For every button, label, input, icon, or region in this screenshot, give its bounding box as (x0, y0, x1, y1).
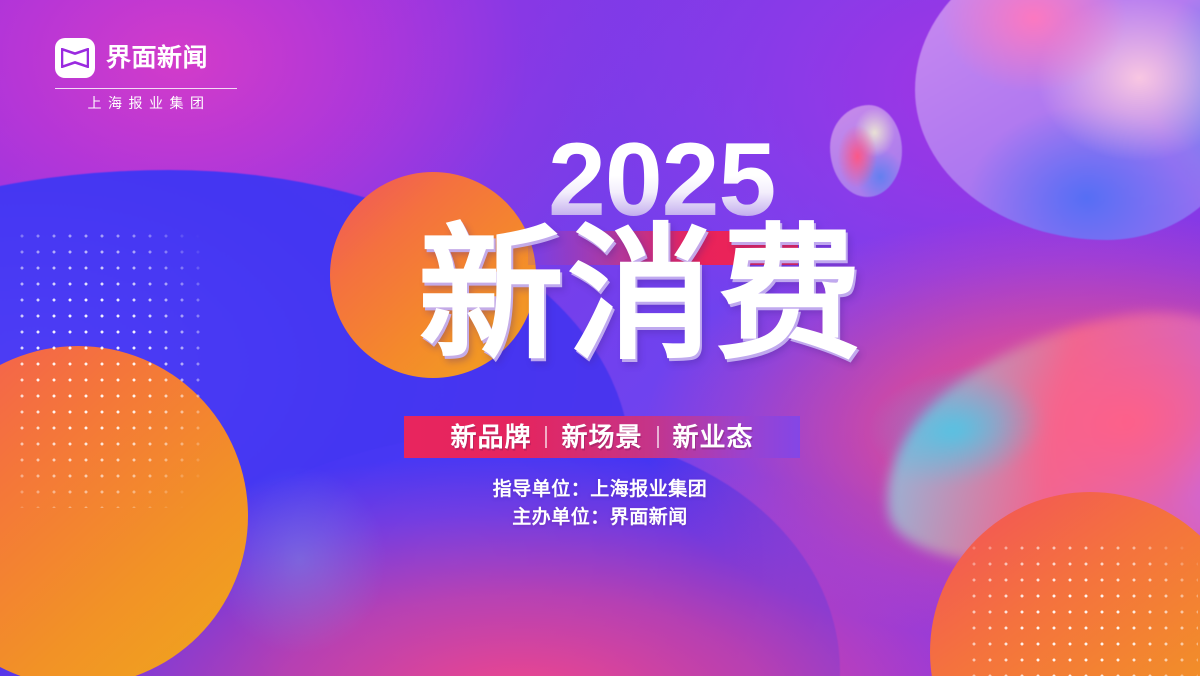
logo-row: 界面新闻 (55, 38, 237, 78)
hero-subtitle-band: 新品牌 新场景 新业态 (404, 416, 800, 458)
logo-wordmark: 界面新闻 (106, 46, 208, 71)
subtitle-item-format: 新业态 (659, 424, 768, 450)
subtitle-item-brand: 新品牌 (436, 424, 545, 450)
credit-line-organizer: 主办单位：界面新闻 (0, 504, 1200, 532)
credit-line-guidance: 指导单位：上海报业集团 (0, 476, 1200, 504)
jiemian-bowtie-logo-icon (55, 38, 95, 78)
logo-divider (55, 88, 237, 89)
dot-grid-right (966, 540, 1198, 676)
logo-subtitle: 上海报业集团 (55, 96, 237, 110)
brand-logo: 界面新闻 上海报业集团 (55, 38, 237, 110)
credits-block: 指导单位：上海报业集团 主办单位：界面新闻 (0, 476, 1200, 532)
gradient-blob-small-icon (830, 105, 902, 197)
hero-title: 新消费 (418, 222, 865, 368)
subtitle-item-scene: 新场景 (547, 424, 656, 450)
poster-canvas: 界面新闻 上海报业集团 2025 新消费 新品牌 新场景 新业态 指导单位：上海… (0, 0, 1200, 676)
dot-grid-left (14, 228, 200, 508)
